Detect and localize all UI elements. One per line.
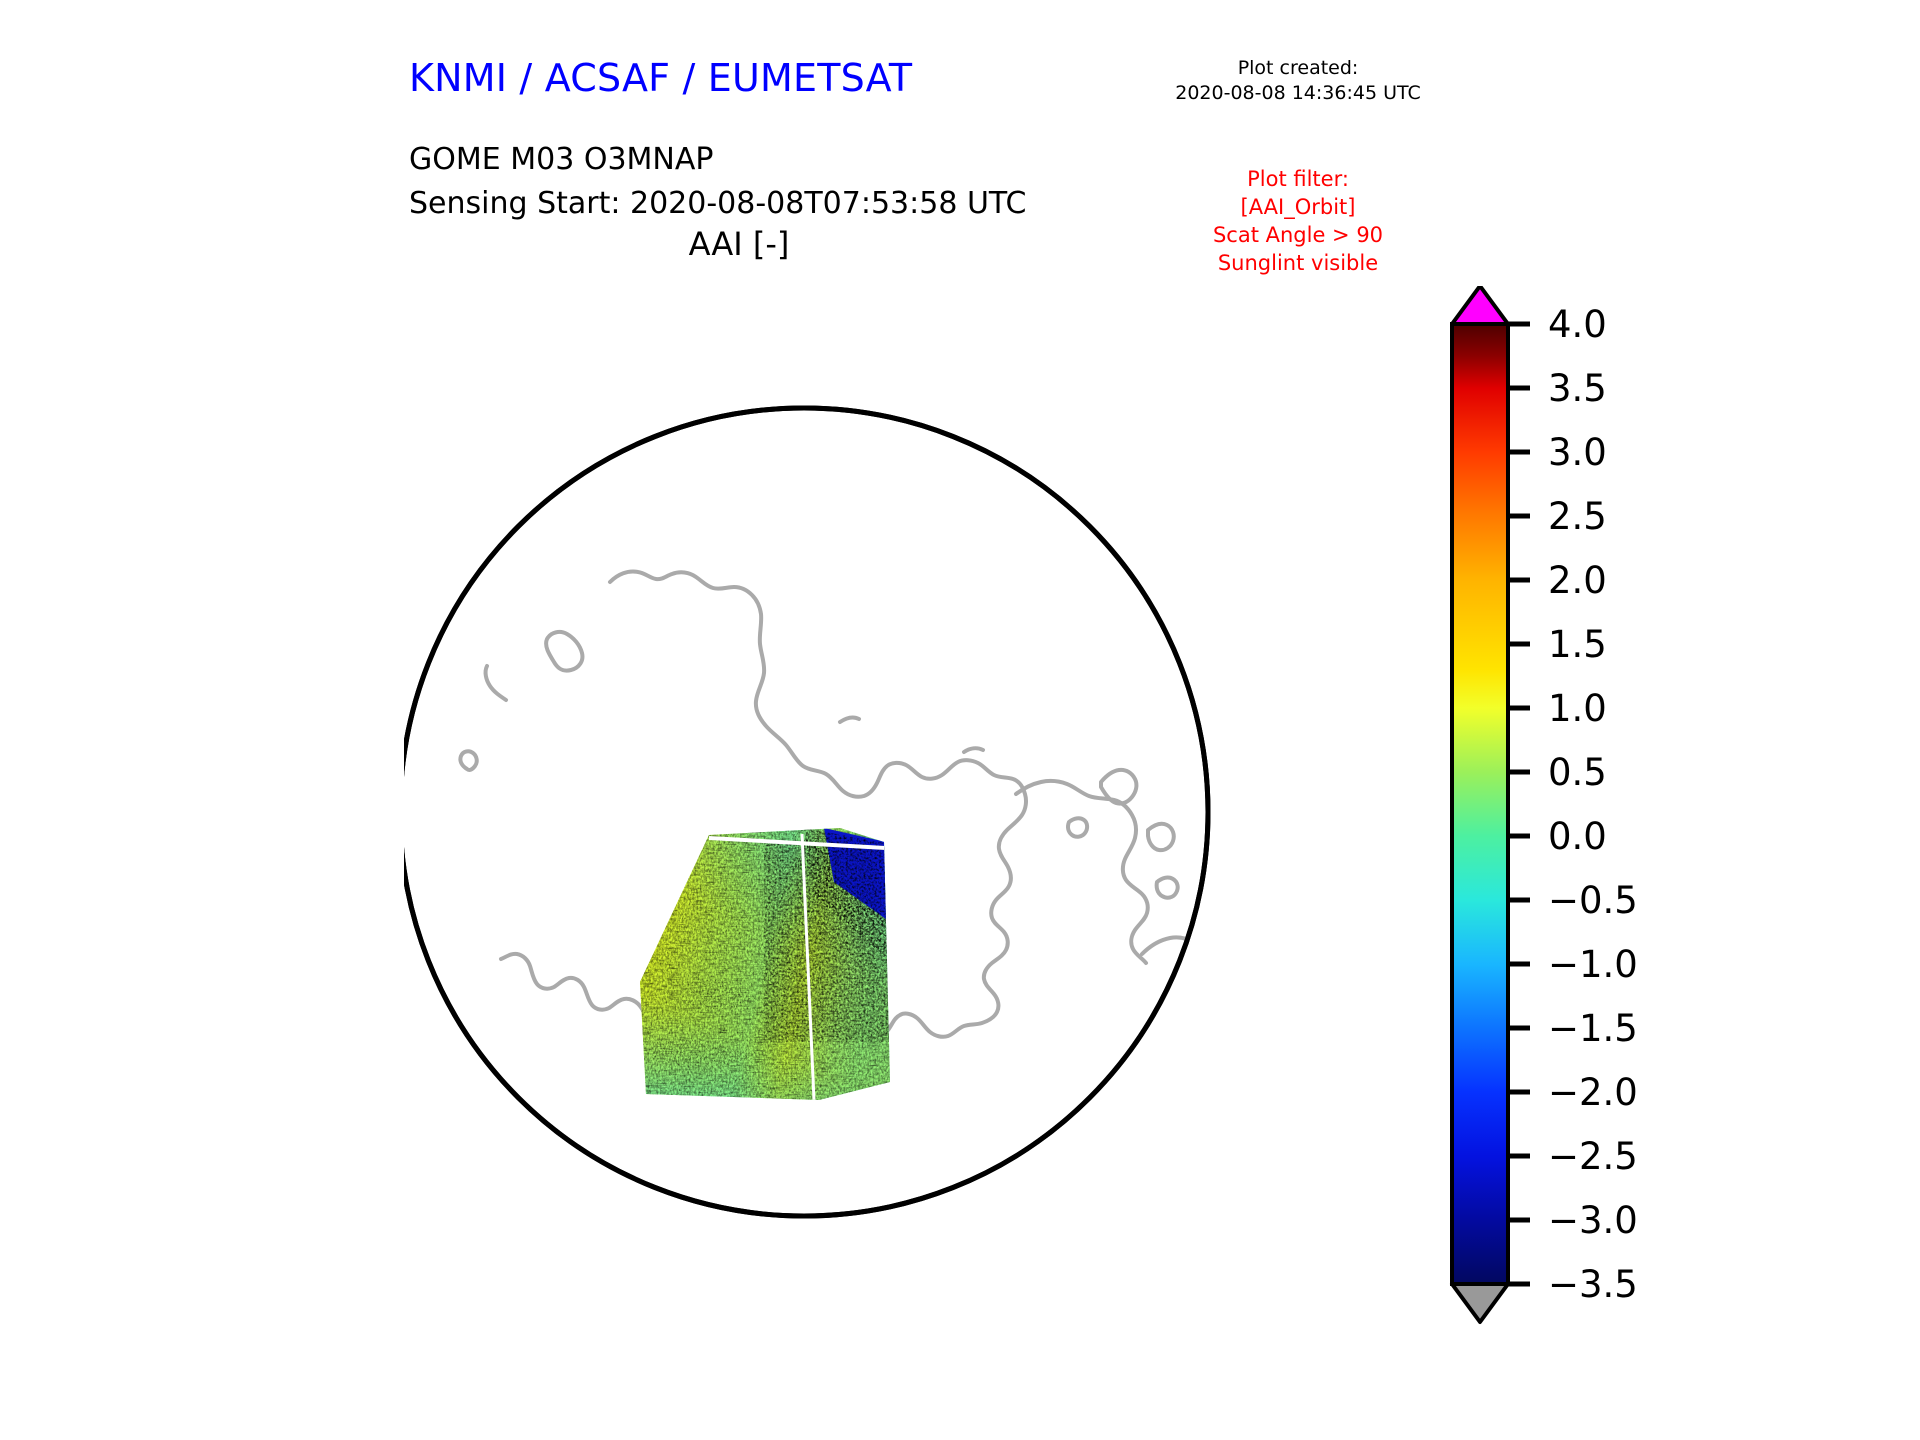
colorbar-under-arrow	[1452, 1284, 1508, 1322]
colorbar-tick-label: 0.5	[1548, 751, 1607, 794]
colorbar-gradient	[1452, 324, 1508, 1284]
colorbar-tick-label: 4.0	[1548, 303, 1607, 346]
coastline-new-zealand-south	[678, 284, 716, 352]
colorbar-tick-label: 1.0	[1548, 687, 1607, 730]
colorbar-over-arrow	[1452, 286, 1508, 324]
plot-created-value: 2020-08-08 14:36:45 UTC	[1148, 81, 1448, 106]
quantity-title: AAI [-]	[409, 225, 1069, 263]
colorbar-tick-label: 3.5	[1548, 367, 1607, 410]
coastline-falkland-islands	[1184, 958, 1203, 976]
instrument-block: GOME M03 O3MNAP Sensing Start: 2020-08-0…	[409, 138, 1026, 226]
colorbar-panel[interactable]: 4.03.53.02.52.01.51.00.50.0−0.5−1.0−1.5−…	[1438, 286, 1858, 1346]
coastline-new-zealand-north	[717, 282, 739, 284]
map-panel	[404, 282, 1434, 1342]
plot-created-label: Plot created:	[1148, 56, 1448, 81]
plot-filter-line-4: Sunglint visible	[1148, 249, 1448, 277]
colorbar-tick-label: −2.5	[1548, 1135, 1638, 1178]
colorbar-tick-label: −2.0	[1548, 1071, 1638, 1114]
colorbar-tick-label: −1.0	[1548, 943, 1638, 986]
colorbar-tick-label: 2.5	[1548, 495, 1607, 538]
colorbar-tick-label: −3.0	[1548, 1199, 1638, 1242]
plot-filter-block: Plot filter: [AAI_Orbit] Scat Angle > 90…	[1148, 165, 1448, 277]
sensing-start-line: Sensing Start: 2020-08-08T07:53:58 UTC	[409, 182, 1026, 226]
colorbar-tick-label: 1.5	[1548, 623, 1607, 666]
colorbar-tick-label: 2.0	[1548, 559, 1607, 602]
colorbar-ticks-group: 4.03.53.02.52.01.51.00.50.0−0.5−1.0−1.5−…	[1508, 303, 1638, 1306]
instrument-line: GOME M03 O3MNAP	[409, 138, 1026, 182]
colorbar-tick-label: 0.0	[1548, 815, 1607, 858]
colorbar-tick-label: −1.5	[1548, 1007, 1638, 1050]
plot-filter-line-1: Plot filter:	[1148, 165, 1448, 193]
colorbar-tick-label: 3.0	[1548, 431, 1607, 474]
plot-filter-line-2: [AAI_Orbit]	[1148, 193, 1448, 221]
colorbar-tick-label: −3.5	[1548, 1263, 1638, 1306]
plot-created-block: Plot created: 2020-08-08 14:36:45 UTC	[1148, 56, 1448, 106]
colorbar-tick-label: −0.5	[1548, 879, 1638, 922]
organisation-title: KNMI / ACSAF / EUMETSAT	[409, 56, 912, 100]
plot-filter-line-3: Scat Angle > 90	[1148, 221, 1448, 249]
coastline-new-zealand	[677, 285, 732, 363]
